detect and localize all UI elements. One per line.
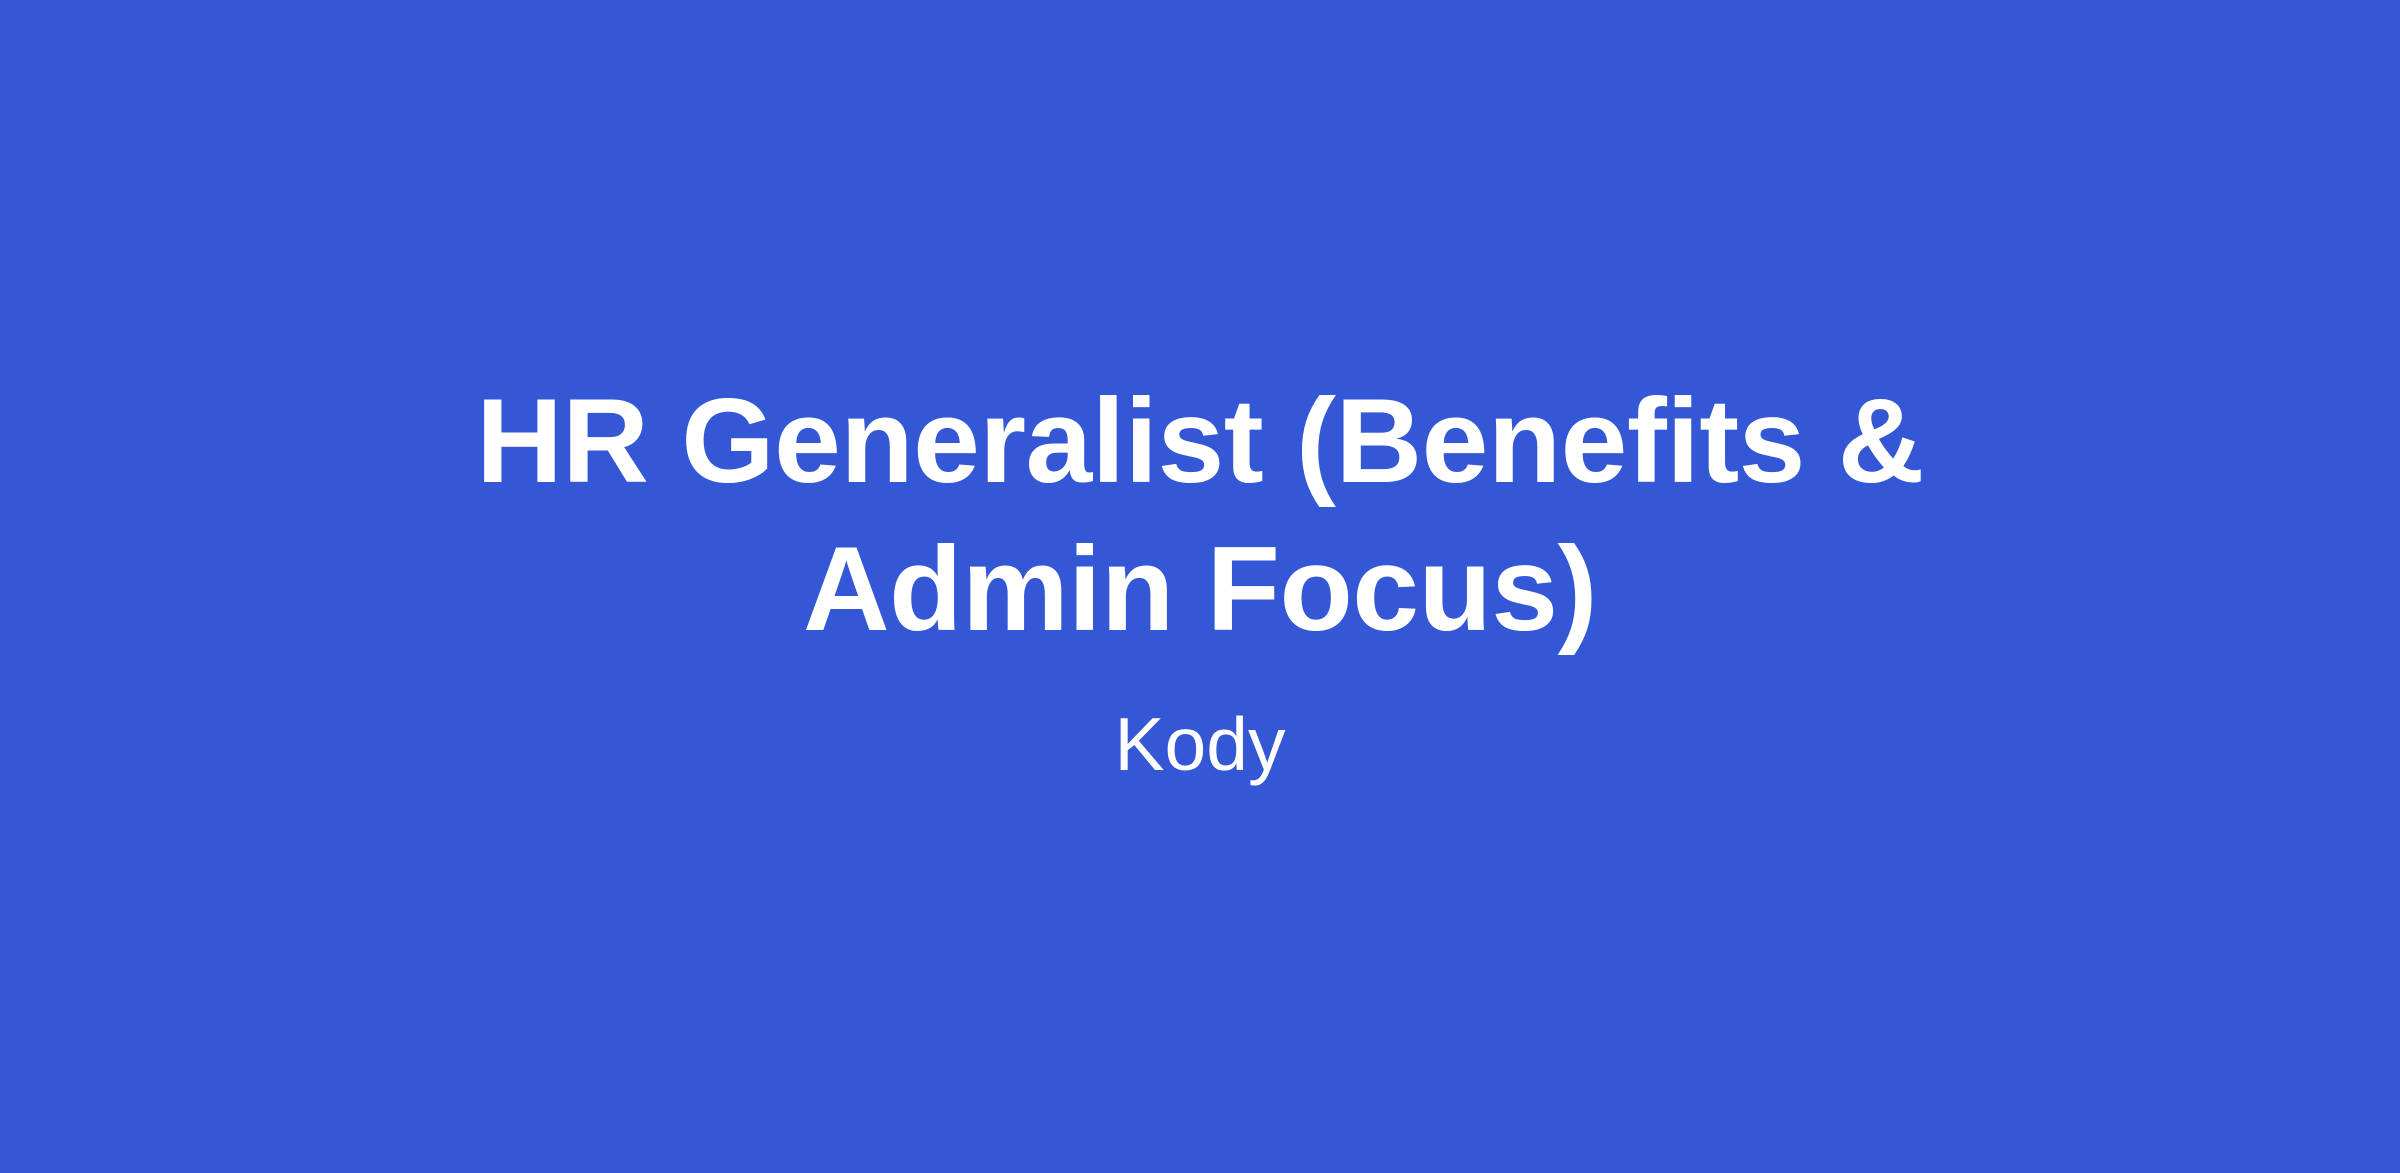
slide-subtitle: Kody bbox=[1115, 699, 1286, 789]
title-block: HR Generalist (Benefits & Admin Focus) K… bbox=[420, 368, 1980, 789]
title-slide: HR Generalist (Benefits & Admin Focus) K… bbox=[0, 0, 2400, 1173]
slide-title: HR Generalist (Benefits & Admin Focus) bbox=[450, 368, 1950, 663]
